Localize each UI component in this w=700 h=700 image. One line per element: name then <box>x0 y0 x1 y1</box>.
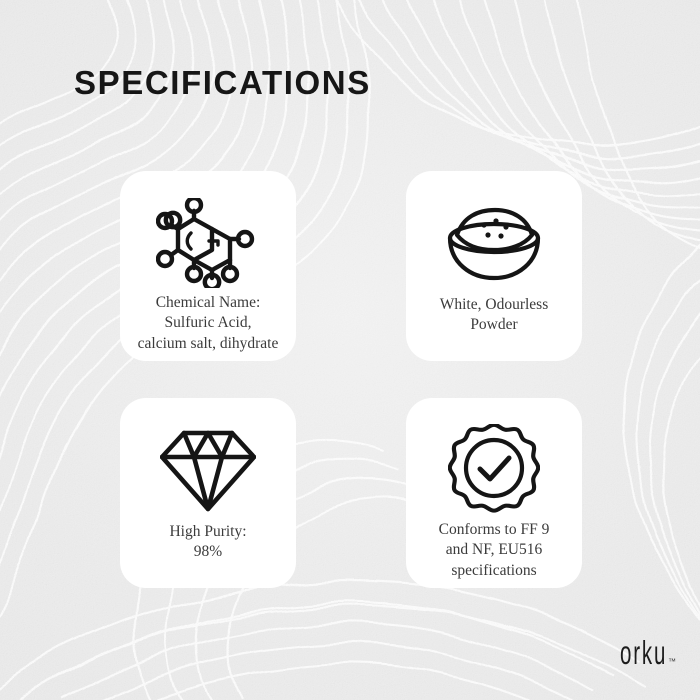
spec-card-appearance-text: White, Odourless Powder <box>372 295 616 336</box>
brand-logo: orku ™ <box>591 638 676 668</box>
verified-seal-icon <box>406 422 582 518</box>
spec-card-conformance-text: Conforms to FF 9 and NF, EU516 specifica… <box>372 520 616 581</box>
spec-card-chemical-name-text: Chemical Name: Sulfuric Acid, calcium sa… <box>86 293 330 354</box>
diamond-icon <box>120 422 296 518</box>
verified-seal-icon-graphic <box>448 424 540 516</box>
trademark-symbol: ™ <box>668 657 676 666</box>
spec-card-purity: High Purity: 98% <box>120 398 296 588</box>
spec-card-appearance: White, Odourless Powder <box>406 171 582 361</box>
molecule-icon-graphic <box>156 198 261 288</box>
spec-card-purity-text: High Purity: 98% <box>86 522 330 563</box>
powder-bowl-icon <box>406 195 582 291</box>
spec-card-conformance: Conforms to FF 9 and NF, EU516 specifica… <box>406 398 582 588</box>
specifications-page: SPECIFICATIONS <box>0 0 700 700</box>
spec-card-chemical-name: Chemical Name: Sulfuric Acid, calcium sa… <box>120 171 296 361</box>
powder-bowl-icon-graphic <box>444 204 544 282</box>
diamond-icon-graphic <box>160 427 256 513</box>
brand-logo-wordmark: orku <box>620 638 667 668</box>
specification-cards-grid: Chemical Name: Sulfuric Acid, calcium sa… <box>0 0 700 700</box>
molecule-icon <box>120 195 296 291</box>
